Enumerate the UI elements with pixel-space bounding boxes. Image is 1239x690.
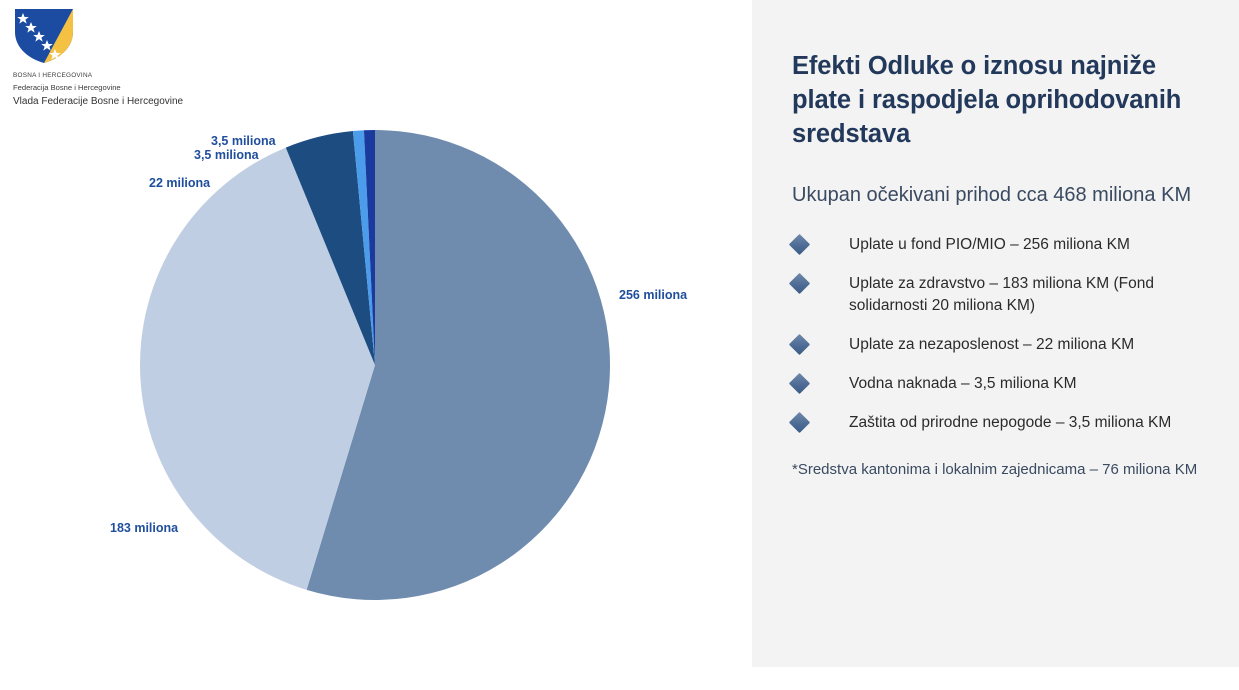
list-item: Uplate u fond PIO/MIO – 256 miliona KM xyxy=(792,234,1212,256)
list-item-label: Vodna naknada – 3,5 miliona KM xyxy=(849,373,1212,395)
page-title: Efekti Odluke o iznosu najniže plate i r… xyxy=(792,50,1212,152)
list-item: Uplate za zdravstvo – 183 miliona KM (Fo… xyxy=(792,273,1212,317)
pie-label-nezaposlenost: 22 miliona xyxy=(149,176,210,190)
list-item-label: Uplate za nezaposlenost – 22 miliona KM xyxy=(849,334,1212,356)
pie-chart: 256 miliona 183 miliona 22 miliona 3,5 m… xyxy=(0,0,752,690)
list-item-label: Uplate za zdravstvo – 183 miliona KM (Fo… xyxy=(849,273,1212,317)
list-item: Zaštita od prirodne nepogode – 3,5 milio… xyxy=(792,412,1212,434)
total-revenue-subtitle: Ukupan očekivani prihod cca 468 miliona … xyxy=(792,182,1212,208)
footnote: *Sredstva kantonima i lokalnim zajednica… xyxy=(792,460,1212,481)
diamond-bullet-icon xyxy=(789,334,810,355)
list-item: Vodna naknada – 3,5 miliona KM xyxy=(792,373,1212,395)
diamond-bullet-icon xyxy=(789,373,810,394)
list-item-label: Zaštita od prirodne nepogode – 3,5 milio… xyxy=(849,412,1212,434)
pie-label-vodna-naknada: 3,5 miliona xyxy=(194,148,259,162)
diamond-bullet-icon xyxy=(789,273,810,294)
diamond-bullet-icon xyxy=(789,412,810,433)
content-panel: Efekti Odluke o iznosu najniže plate i r… xyxy=(752,0,1239,667)
pie-label-pio-mio: 256 miliona xyxy=(619,288,687,302)
pie-slice-group xyxy=(140,130,610,600)
list-item: Uplate za nezaposlenost – 22 miliona KM xyxy=(792,334,1212,356)
pie-label-prirodna-nepogoda: 3,5 miliona xyxy=(211,134,276,148)
diamond-bullet-icon xyxy=(789,234,810,255)
pie-chart-svg xyxy=(0,0,752,690)
list-item-label: Uplate u fond PIO/MIO – 256 miliona KM xyxy=(849,234,1212,256)
allocation-list: Uplate u fond PIO/MIO – 256 miliona KM U… xyxy=(792,234,1212,434)
pie-label-zdravstvo: 183 miliona xyxy=(110,521,178,535)
